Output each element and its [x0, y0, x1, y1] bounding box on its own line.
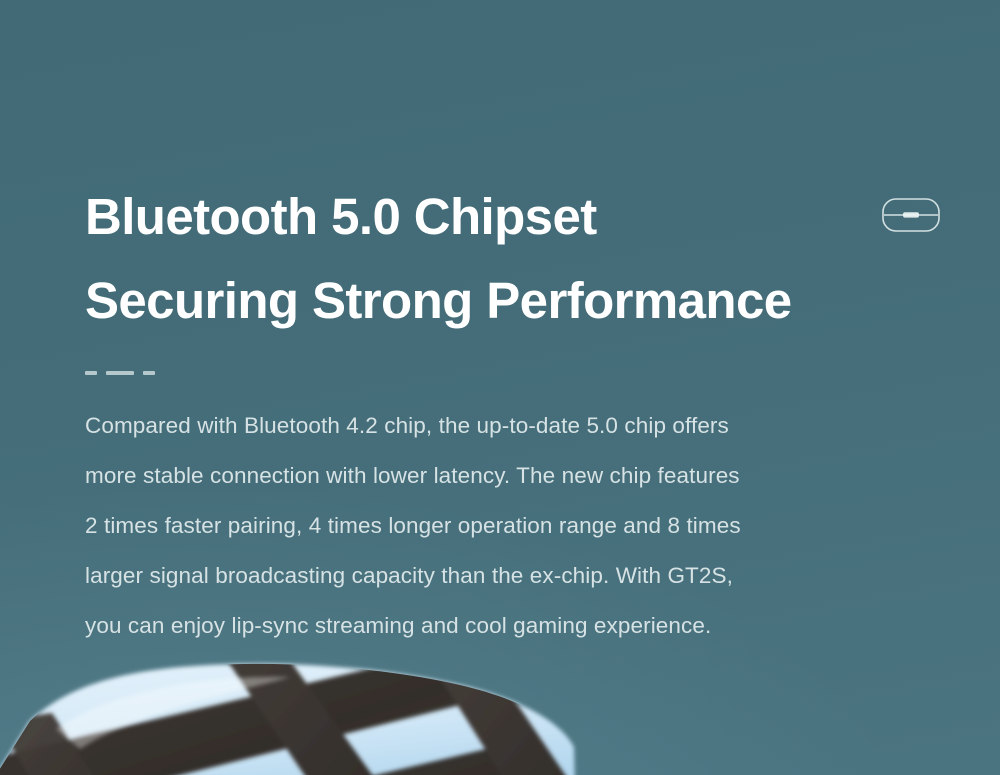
divider-dash-left — [85, 371, 97, 375]
headline-row: Bluetooth 5.0 Chipset Securing Strong Pe… — [85, 175, 925, 343]
body-copy: Compared with Bluetooth 4.2 chip, the up… — [85, 401, 915, 651]
body-line-3: 2 times faster pairing, 4 times longer o… — [85, 501, 915, 551]
divider-dash-middle — [106, 371, 134, 375]
promo-banner: Bluetooth 5.0 Chipset Securing Strong Pe… — [0, 0, 1000, 775]
body-line-4: larger signal broadcasting capacity than… — [85, 551, 915, 601]
hero-content: Bluetooth 5.0 Chipset Securing Strong Pe… — [0, 0, 1000, 651]
body-line-1: Compared with Bluetooth 4.2 chip, the up… — [85, 401, 915, 451]
headline-line-2: Securing Strong Performance — [85, 259, 845, 343]
body-line-5: you can enjoy lip-sync streaming and coo… — [85, 601, 915, 651]
headline-line-1: Bluetooth 5.0 Chipset — [85, 175, 845, 259]
divider-dash-right — [143, 371, 155, 375]
earbuds-case-glyph — [879, 194, 943, 236]
page-title: Bluetooth 5.0 Chipset Securing Strong Pe… — [85, 175, 845, 343]
earbuds-case-icon — [879, 194, 943, 236]
body-line-2: more stable connection with lower latenc… — [85, 451, 915, 501]
divider — [85, 371, 1000, 375]
case-latch — [903, 212, 919, 217]
